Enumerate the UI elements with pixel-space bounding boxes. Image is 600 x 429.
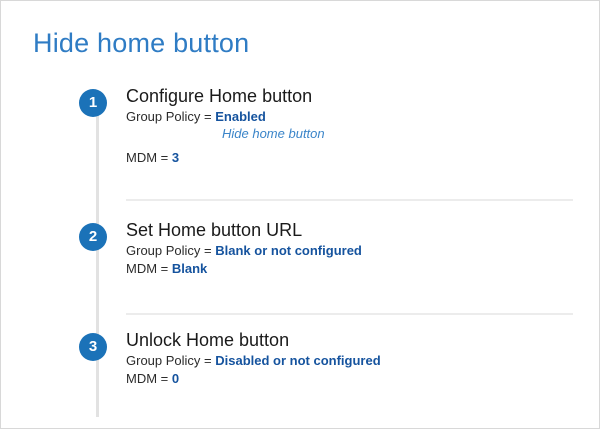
step-connector-rail: [96, 101, 99, 417]
section-divider: [126, 199, 573, 201]
group-policy-label: Group Policy =: [126, 243, 215, 258]
group-policy-value: Disabled or not configured: [215, 353, 380, 368]
mdm-row: MDM = Blank: [126, 260, 581, 277]
group-policy-label: Group Policy =: [126, 109, 215, 124]
group-policy-value: Blank or not configured: [215, 243, 362, 258]
mdm-row: MDM = 0: [126, 370, 581, 387]
mdm-label: MDM =: [126, 371, 172, 386]
step-number-badge: 2: [79, 223, 107, 251]
step-number-badge: 3: [79, 333, 107, 361]
mdm-label: MDM =: [126, 150, 172, 165]
group-policy-value: Enabled: [215, 109, 266, 124]
step-content: Unlock Home button Group Policy = Disabl…: [126, 329, 581, 387]
diagram-canvas: Hide home button 1 Configure Home button…: [0, 0, 600, 429]
step-content: Configure Home button Group Policy = Ena…: [126, 85, 581, 166]
page-title: Hide home button: [33, 28, 249, 59]
mdm-value: 0: [172, 371, 179, 386]
group-policy-row: Group Policy = Blank or not configured: [126, 242, 581, 259]
group-policy-row: Group Policy = Disabled or not configure…: [126, 352, 581, 369]
section-divider: [126, 313, 573, 315]
group-policy-label: Group Policy =: [126, 353, 215, 368]
mdm-label: MDM =: [126, 261, 172, 276]
step-note: Hide home button: [222, 125, 581, 142]
step-heading: Set Home button URL: [126, 219, 581, 241]
mdm-value: 3: [172, 150, 179, 165]
group-policy-row: Group Policy = Enabled: [126, 108, 581, 125]
mdm-row: MDM = 3: [126, 149, 581, 166]
step-content: Set Home button URL Group Policy = Blank…: [126, 219, 581, 277]
mdm-value: Blank: [172, 261, 207, 276]
step-number-badge: 1: [79, 89, 107, 117]
step-heading: Unlock Home button: [126, 329, 581, 351]
step-heading: Configure Home button: [126, 85, 581, 107]
